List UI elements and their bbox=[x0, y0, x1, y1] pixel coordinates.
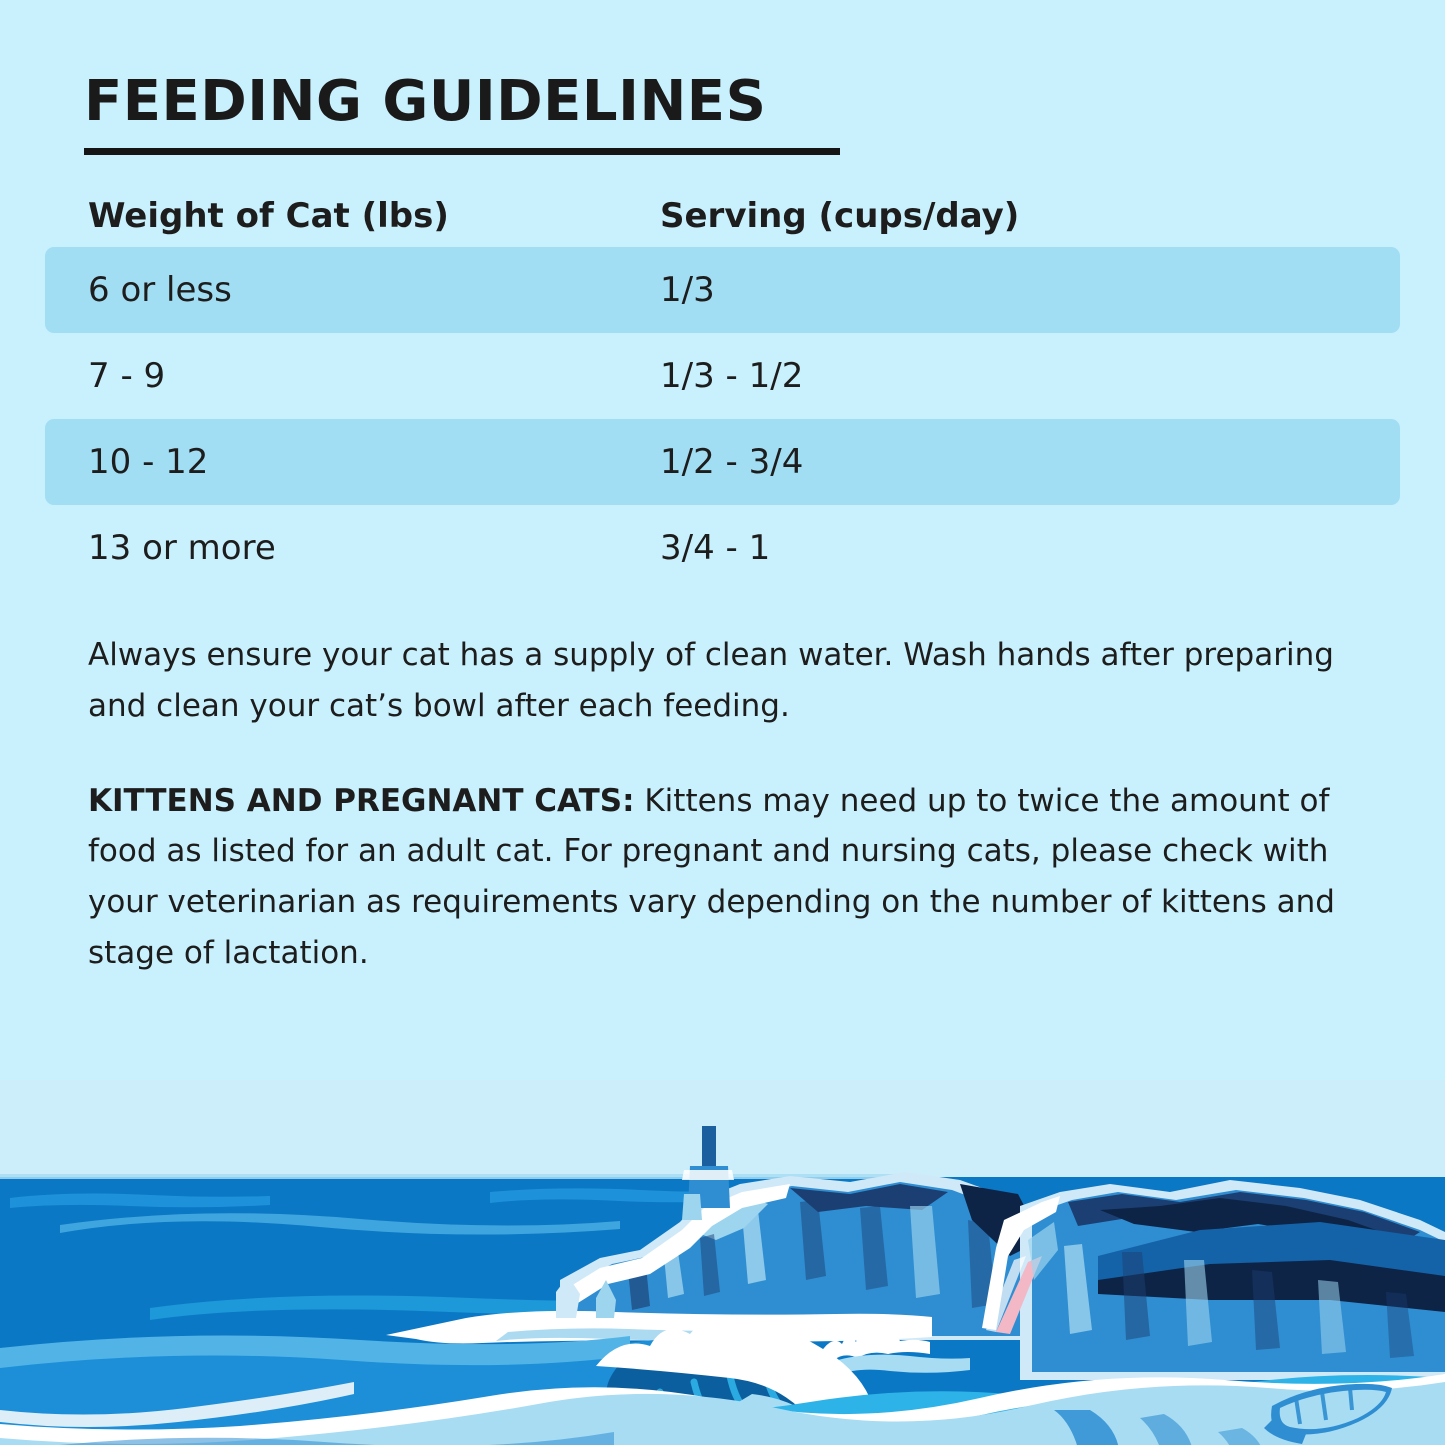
table-header-row: Weight of Cat (lbs) Serving (cups/day) bbox=[0, 185, 1445, 247]
feeding-guidelines-panel: FEEDING GUIDELINES Weight of Cat (lbs) S… bbox=[0, 0, 1445, 1445]
note-kittens: KITTENS AND PREGNANT CATS: Kittens may n… bbox=[88, 776, 1378, 979]
table-row: 7 - 9 1/3 - 1/2 bbox=[0, 333, 1445, 419]
table-row: 13 or more 3/4 - 1 bbox=[0, 505, 1445, 591]
header-serving: Serving (cups/day) bbox=[660, 196, 1260, 236]
cell-weight: 7 - 9 bbox=[0, 356, 660, 396]
header-weight-of-cat: Weight of Cat (lbs) bbox=[0, 196, 660, 236]
cell-weight: 10 - 12 bbox=[0, 442, 660, 482]
table-row: 6 or less 1/3 bbox=[0, 247, 1445, 333]
feeding-table: Weight of Cat (lbs) Serving (cups/day) 6… bbox=[0, 185, 1445, 591]
cell-weight: 6 or less bbox=[0, 270, 660, 310]
cell-serving: 1/2 - 3/4 bbox=[660, 442, 1260, 482]
note-kittens-lead: KITTENS AND PREGNANT CATS: bbox=[88, 783, 635, 819]
title-underline bbox=[84, 148, 840, 155]
table-row: 10 - 12 1/2 - 3/4 bbox=[0, 419, 1445, 505]
cell-weight: 13 or more bbox=[0, 528, 660, 568]
cell-serving: 1/3 - 1/2 bbox=[660, 356, 1260, 396]
cell-serving: 1/3 bbox=[660, 270, 1260, 310]
page-title: FEEDING GUIDELINES bbox=[84, 74, 1364, 130]
cell-serving: 3/4 - 1 bbox=[660, 528, 1260, 568]
title-block: FEEDING GUIDELINES bbox=[84, 74, 1364, 155]
note-water: Always ensure your cat has a supply of c… bbox=[88, 630, 1378, 732]
notes-block: Always ensure your cat has a supply of c… bbox=[88, 630, 1378, 979]
coastal-cliffs-ocean-scene bbox=[0, 1080, 1445, 1445]
